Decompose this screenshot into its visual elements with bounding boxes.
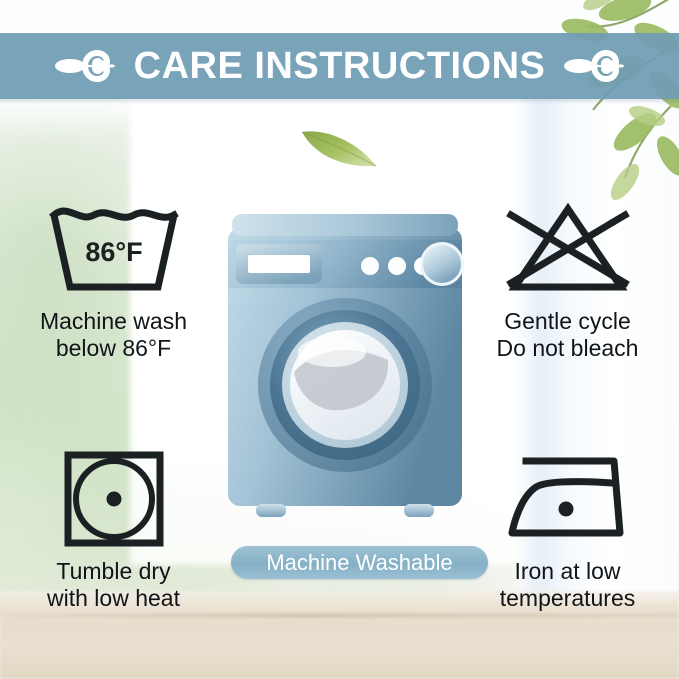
washer-top-strip	[232, 214, 458, 236]
washer-door	[258, 298, 432, 472]
washer-detergent-drawer	[236, 244, 322, 284]
symbol-cell-tumble-dry: Tumble dry with low heat	[6, 446, 221, 612]
iron-icon	[460, 446, 675, 552]
symbol-label-tumble-dry: Tumble dry with low heat	[6, 558, 221, 612]
care-instructions-infographic: CARE INSTRUCTIONS 86°F Machine wash belo…	[0, 0, 679, 679]
header-banner-shadow	[0, 99, 679, 104]
machine-washable-badge: Machine Washable	[231, 546, 488, 579]
page-title: CARE INSTRUCTIONS	[134, 47, 546, 85]
wash-tub-icon: 86°F	[6, 196, 221, 302]
symbol-label-do-not-bleach: Gentle cycle Do not bleach	[460, 308, 675, 362]
wash-temperature-value: 86°F	[85, 237, 142, 267]
symbol-cell-machine-wash: 86°F Machine wash below 86°F	[6, 196, 221, 362]
header-banner: CARE INSTRUCTIONS	[0, 33, 679, 99]
triangle-crossed-icon	[460, 196, 675, 302]
fleur-de-lis-right-icon	[563, 44, 625, 88]
fleur-de-lis-left-icon	[54, 44, 116, 88]
washing-machine-illustration	[222, 200, 468, 540]
symbol-label-machine-wash: Machine wash below 86°F	[6, 308, 221, 362]
badge-label: Machine Washable	[266, 552, 452, 574]
washer-program-dial	[420, 242, 464, 286]
symbol-cell-iron: Iron at low temperatures	[460, 446, 675, 612]
symbol-label-iron: Iron at low temperatures	[460, 558, 675, 612]
floating-leaf-icon	[296, 120, 382, 172]
tumble-dry-icon	[6, 446, 221, 552]
background-wood-edge	[0, 614, 679, 617]
symbol-cell-do-not-bleach: Gentle cycle Do not bleach	[460, 196, 675, 362]
